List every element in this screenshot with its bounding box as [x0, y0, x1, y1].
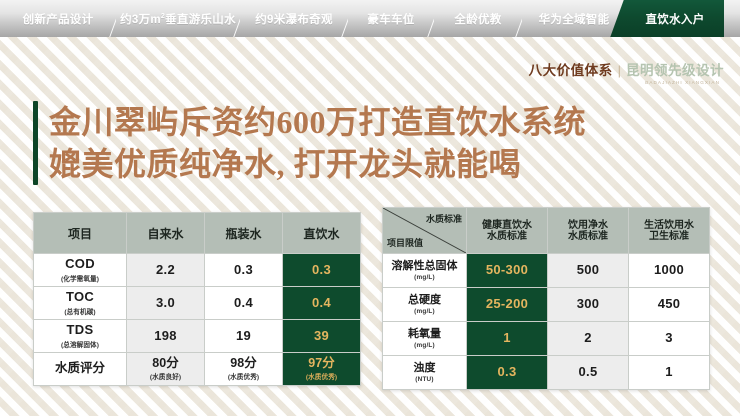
tab-huawei-quanyu-zhineng[interactable]: 华为全域智能	[522, 0, 626, 37]
cell-domestic-tds: 1000	[629, 254, 710, 288]
row-label-tds: TDS (总溶解固体)	[34, 320, 127, 353]
cell-purified-hardness: 300	[548, 288, 629, 322]
cell-healthy-oxygen: 1	[467, 322, 548, 356]
col-header-item: 项目	[34, 213, 127, 254]
water-comparison-table: 项目 自来水 瓶装水 直饮水 COD (化学需氧量) 2.2 0.3 0.3	[33, 212, 361, 386]
value: 39	[283, 329, 360, 343]
row-label-cod: COD (化学需氧量)	[34, 254, 127, 287]
table-row: 水质评分 80分 (水质良好) 98分 (水质优秀) 97分 (水质优秀)	[34, 353, 361, 386]
table-header-row: 水质标准 项目限值 健康直饮水 水质标准 饮用净水 水质标准 生活饮用水 卫生标…	[383, 208, 710, 254]
col-header-healthy-direct-drinking: 健康直饮水 水质标准	[467, 208, 548, 254]
cell-domestic-oxygen: 3	[629, 322, 710, 356]
headline-text: 金川翠屿斥资约600万打造直饮水系统 媲美优质纯净水, 打开龙头就能喝	[49, 101, 586, 185]
value: 1	[629, 365, 709, 379]
value: 2.2	[127, 263, 204, 277]
cell-tap-toc: 3.0	[127, 287, 205, 320]
cell-domestic-hardness: 450	[629, 288, 710, 322]
metric-name: TDS	[34, 323, 126, 337]
col-header-purified-drinking: 饮用净水 水质标准	[548, 208, 629, 254]
value: 19	[205, 329, 282, 343]
brand-separator: |	[618, 64, 621, 77]
header-line-1: 饮用净水	[548, 220, 628, 231]
value: 500	[548, 263, 628, 277]
slide-canvas: 创新产品设计 约3万m2垂直游乐山水 约9米瀑布奇观 豪车车位 全龄优教 华为全…	[0, 0, 740, 416]
col-header-bottled-water: 瓶装水	[205, 213, 283, 254]
value: 2	[548, 331, 628, 345]
brand-row: 八大价值体系 | 昆明领先级设计	[529, 64, 724, 78]
tab-buzhuanqian-wuye[interactable]: 不赚钱物业	[724, 0, 740, 37]
cell-domestic-turbidity: 1	[629, 356, 710, 390]
tab-label: 豪车车位	[367, 11, 414, 27]
row-label-oxygen-consumption: 耗氧量 (mg/L)	[383, 322, 467, 356]
table-row: TDS (总溶解固体) 198 19 39	[34, 320, 361, 353]
value: 0.4	[205, 296, 282, 310]
value-note: (水质优秀)	[205, 371, 282, 381]
cell-bottled-toc: 0.4	[205, 287, 283, 320]
value-note: (水质优秀)	[283, 371, 360, 381]
headline-line-2: 媲美优质纯净水, 打开龙头就能喝	[49, 143, 586, 185]
value: 1	[467, 331, 547, 345]
top-tab-strip: 创新产品设计 约3万m2垂直游乐山水 约9米瀑布奇观 豪车车位 全龄优教 华为全…	[0, 0, 740, 37]
tab-label: 直饮水入户	[646, 11, 705, 27]
tab-label: 约9米瀑布奇观	[255, 11, 333, 27]
tab-chuangxin-chanpin-sheji[interactable]: 创新产品设计	[0, 0, 116, 37]
table-row: COD (化学需氧量) 2.2 0.3 0.3	[34, 254, 361, 287]
tab-pubu-qiguan[interactable]: 约9米瀑布奇观	[240, 0, 348, 37]
row-label-hardness: 总硬度 (mg/L)	[383, 288, 467, 322]
value-note: (水质良好)	[127, 371, 204, 381]
col-header-domestic-drinking: 生活饮用水 卫生标准	[629, 208, 710, 254]
value: 0.3	[205, 263, 282, 277]
cell-bottled-cod: 0.3	[205, 254, 283, 287]
metric-name: 总硬度	[383, 294, 466, 306]
metric-name: 溶解性总固体	[383, 260, 466, 272]
value: 450	[629, 297, 709, 311]
corner-split-header: 水质标准 项目限值	[383, 208, 467, 254]
tab-label: 约3万m2垂直游乐山水	[120, 11, 236, 27]
value: 25-200	[467, 297, 547, 311]
metric-unit: (mg/L)	[383, 342, 466, 349]
value: 98分	[205, 357, 282, 371]
header-line-1: 健康直饮水	[467, 220, 547, 231]
value: 3.0	[127, 296, 204, 310]
metric-name: 浊度	[383, 362, 466, 374]
header-line-1: 生活饮用水	[629, 220, 709, 231]
value: 97分	[283, 357, 360, 371]
table-row: 耗氧量 (mg/L) 1 2 3	[383, 322, 710, 356]
cell-purified-tds: 500	[548, 254, 629, 288]
tab-label: 全龄优教	[454, 11, 501, 27]
water-standards-table: 水质标准 项目限值 健康直饮水 水质标准 饮用净水 水质标准 生活饮用水 卫生标…	[382, 207, 710, 390]
brand-block: 八大价值体系 | 昆明领先级设计 BADAJIAZHI XIANGXIAN	[529, 64, 724, 85]
table-row: 浊度 (NTU) 0.3 0.5 1	[383, 356, 710, 390]
row-label-tds-solids: 溶解性总固体 (mg/L)	[383, 254, 467, 288]
row-label-water-score: 水质评分	[34, 353, 127, 386]
cell-bottled-score: 98分 (水质优秀)	[205, 353, 283, 386]
value: 80分	[127, 357, 204, 371]
cell-healthy-tds: 50-300	[467, 254, 548, 288]
metric-desc: (总有机碳)	[34, 306, 126, 316]
header-line-2: 卫生标准	[629, 231, 709, 242]
metric-desc: (总溶解固体)	[34, 339, 126, 349]
cell-direct-cod: 0.3	[283, 254, 361, 287]
row-label-toc: TOC (总有机碳)	[34, 287, 127, 320]
metric-name: 水质评分	[34, 362, 126, 376]
headline: 金川翠屿斥资约600万打造直饮水系统 媲美优质纯净水, 打开龙头就能喝	[33, 101, 586, 185]
cell-tap-score: 80分 (水质良好)	[127, 353, 205, 386]
tab-chuizhi-youle-shanshui[interactable]: 约3万m2垂直游乐山水	[116, 0, 240, 37]
value: 3	[629, 331, 709, 345]
tab-label: 创新产品设计	[23, 11, 94, 27]
cell-direct-score: 97分 (水质优秀)	[283, 353, 361, 386]
value: 50-300	[467, 263, 547, 277]
brand-english-subtitle: BADAJIAZHI XIANGXIAN	[529, 81, 724, 86]
header-line-2: 水质标准	[548, 231, 628, 242]
cell-direct-toc: 0.4	[283, 287, 361, 320]
cell-tap-tds: 198	[127, 320, 205, 353]
tab-label: 华为全域智能	[539, 11, 610, 27]
metric-desc: (化学需氧量)	[34, 273, 126, 283]
corner-label-limit: 项目限值	[387, 236, 423, 249]
tab-quanling-youjiao[interactable]: 全龄优教	[434, 0, 522, 37]
col-header-tap-water: 自来水	[127, 213, 205, 254]
cell-tap-cod: 2.2	[127, 254, 205, 287]
value: 300	[548, 297, 628, 311]
cell-direct-tds: 39	[283, 320, 361, 353]
cell-purified-oxygen: 2	[548, 322, 629, 356]
cell-healthy-turbidity: 0.3	[467, 356, 548, 390]
table-row: 溶解性总固体 (mg/L) 50-300 500 1000	[383, 254, 710, 288]
tab-zhiyinshui-ruhu[interactable]: 直饮水入户	[626, 0, 724, 37]
headline-accent-bar	[33, 101, 38, 185]
table-header-row: 项目 自来水 瓶装水 直饮水	[34, 213, 361, 254]
value: 198	[127, 329, 204, 343]
value: 0.4	[283, 296, 360, 310]
metric-name: COD	[34, 257, 126, 271]
value: 0.3	[467, 365, 547, 379]
value: 0.5	[548, 365, 628, 379]
tab-haoche-chewei[interactable]: 豪车车位	[348, 0, 434, 37]
corner-label-standard: 水质标准	[426, 212, 462, 225]
metric-name: 耗氧量	[383, 328, 466, 340]
metric-unit: (mg/L)	[383, 308, 466, 315]
table-row: 总硬度 (mg/L) 25-200 300 450	[383, 288, 710, 322]
cell-healthy-hardness: 25-200	[467, 288, 548, 322]
metric-unit: (NTU)	[383, 376, 466, 383]
metric-unit: (mg/L)	[383, 274, 466, 281]
value: 0.3	[283, 263, 360, 277]
header-line-2: 水质标准	[467, 231, 547, 242]
col-header-direct-drinking-water: 直饮水	[283, 213, 361, 254]
brand-sub-title: 昆明领先级设计	[626, 64, 724, 78]
metric-name: TOC	[34, 290, 126, 304]
table-row: TOC (总有机碳) 3.0 0.4 0.4	[34, 287, 361, 320]
brand-main-title: 八大价值体系	[529, 64, 613, 78]
value: 1000	[629, 263, 709, 277]
cell-purified-turbidity: 0.5	[548, 356, 629, 390]
row-label-turbidity: 浊度 (NTU)	[383, 356, 467, 390]
headline-line-1: 金川翠屿斥资约600万打造直饮水系统	[49, 104, 586, 140]
cell-bottled-tds: 19	[205, 320, 283, 353]
